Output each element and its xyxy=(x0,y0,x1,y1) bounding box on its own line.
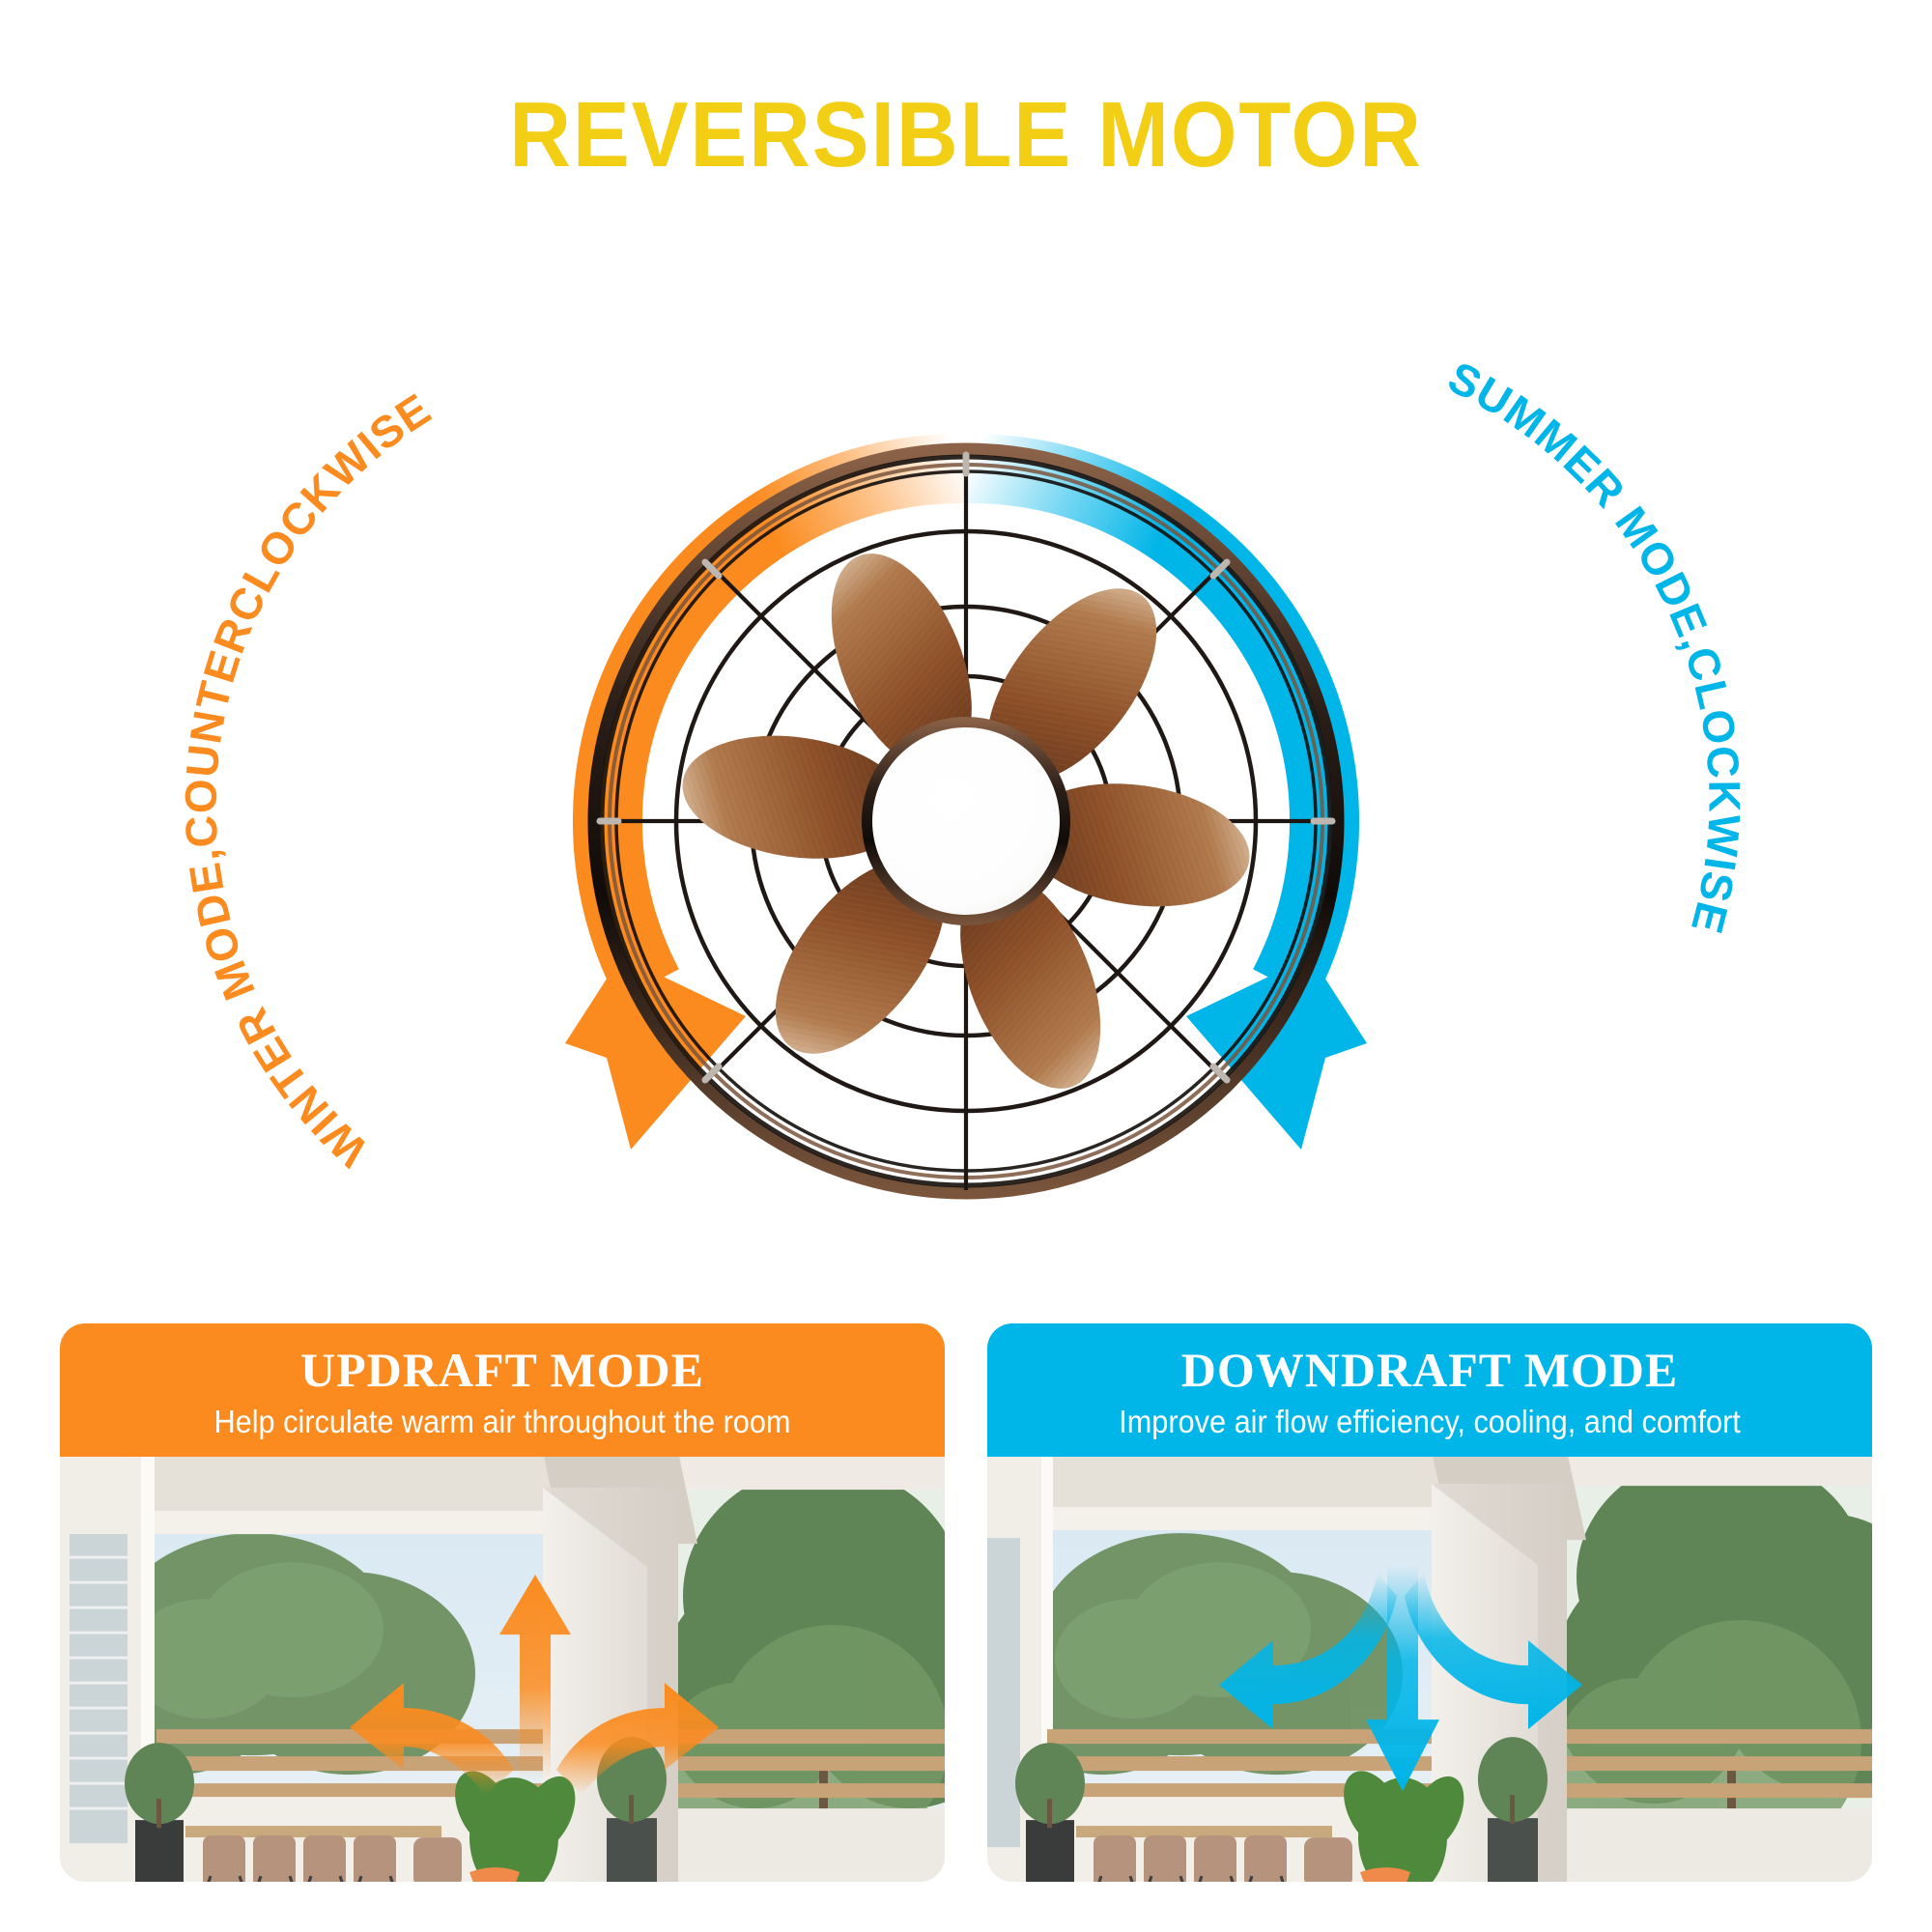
page-title: REVERSIBLE MOTOR xyxy=(77,89,1855,182)
panel-updraft-title: UPDRAFT MODE xyxy=(71,1345,933,1396)
mode-panels: UPDRAFT MODE Help circulate warm air thr… xyxy=(0,1323,1932,1884)
summer-mode-label-text: SUMMER MODE,CLOCKWISE xyxy=(1440,352,1749,939)
panel-updraft-photo xyxy=(60,1457,945,1882)
summer-mode-label: SUMMER MODE,CLOCKWISE xyxy=(1440,352,1749,939)
panel-downdraft[interactable]: DOWNDRAFT MODE Improve air flow efficien… xyxy=(987,1323,1872,1882)
winter-mode-label: WINTER MODE,COUNTERCLOCKWISE xyxy=(175,384,440,1177)
reversible-motor-diagram: WINTER MODE,COUNTERCLOCKWISE SUMMER MODE… xyxy=(0,184,1932,1256)
panel-downdraft-photo xyxy=(987,1457,1872,1882)
panel-downdraft-header: DOWNDRAFT MODE Improve air flow efficien… xyxy=(987,1323,1872,1457)
panel-downdraft-title: DOWNDRAFT MODE xyxy=(999,1345,1861,1396)
fan-hub-light xyxy=(862,717,1070,925)
panel-updraft[interactable]: UPDRAFT MODE Help circulate warm air thr… xyxy=(60,1323,945,1882)
panel-updraft-subtitle: Help circulate warm air throughout the r… xyxy=(101,1402,903,1441)
panel-downdraft-subtitle: Improve air flow efficiency, cooling, an… xyxy=(1029,1402,1831,1441)
winter-mode-label-text: WINTER MODE,COUNTERCLOCKWISE xyxy=(175,384,440,1177)
panel-updraft-header: UPDRAFT MODE Help circulate warm air thr… xyxy=(60,1323,945,1457)
